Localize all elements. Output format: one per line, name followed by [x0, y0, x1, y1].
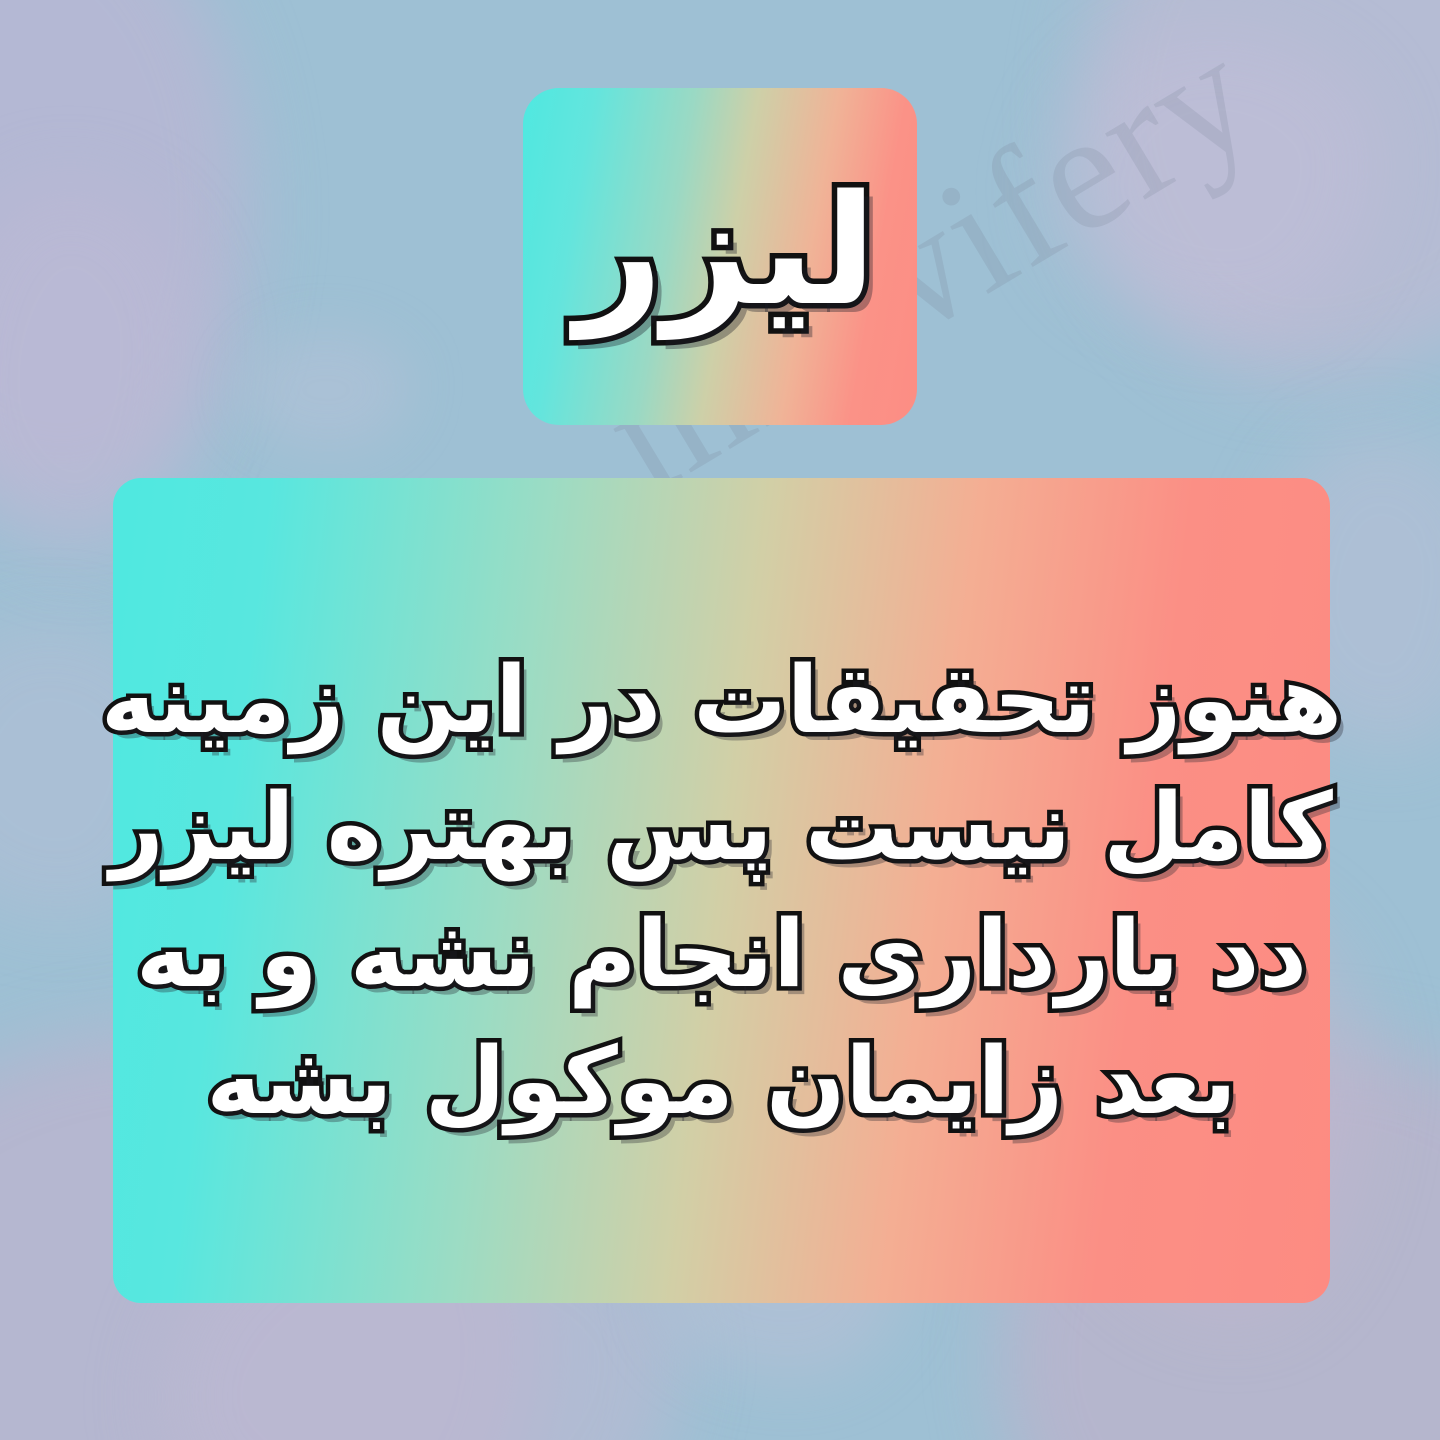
- body-line-2: کامل نیست پس بهتره لیزر: [110, 764, 1333, 891]
- poster-canvas: @m_midwifery لیزر ✦ ✦ ✦ هنوز تحقیقات در …: [0, 0, 1440, 1440]
- body-line-4: بعد زایمان موکول بشه: [206, 1018, 1236, 1145]
- title-badge: لیزر: [523, 88, 917, 425]
- title-label: لیزر: [575, 175, 876, 327]
- watercolor-blob-small-1: [240, 330, 410, 450]
- body-line-3: دد بارداری انجام نشه و به: [136, 891, 1307, 1018]
- watercolor-blob-top-right-2: [1050, 30, 1380, 330]
- content-box: هنوز تحقیقات در این زمینه کامل نیست پس ب…: [113, 478, 1330, 1303]
- content-box-inner: هنوز تحقیقات در این زمینه کامل نیست پس ب…: [122, 487, 1321, 1294]
- body-line-1: هنوز تحقیقات در این زمینه: [101, 637, 1342, 764]
